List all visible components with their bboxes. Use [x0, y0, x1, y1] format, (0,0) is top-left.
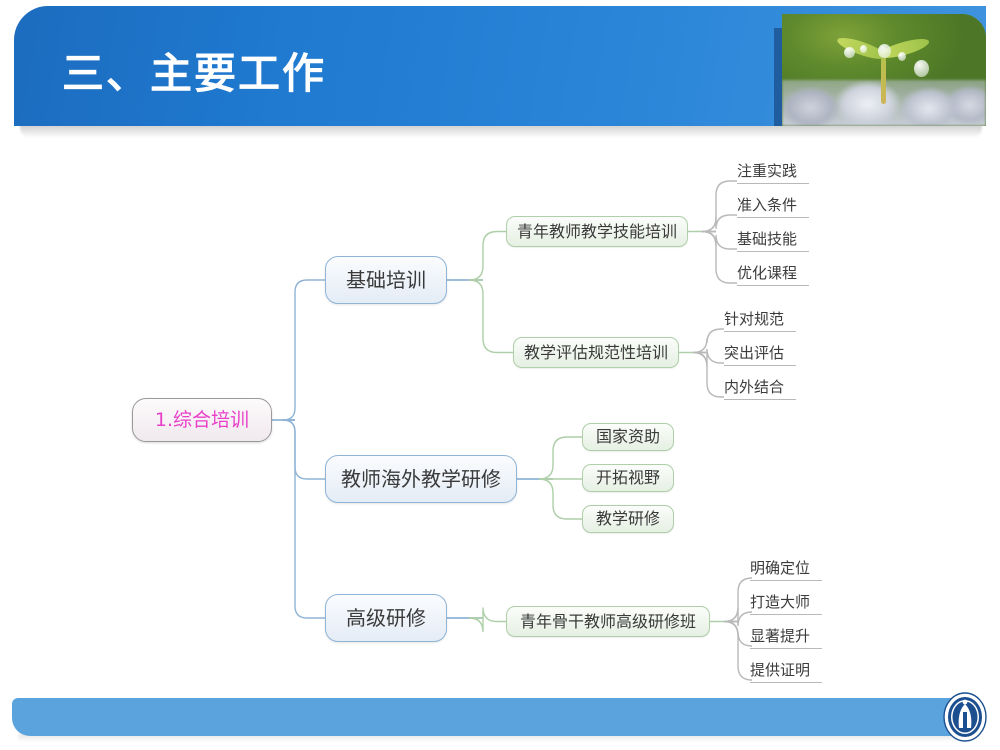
connector-line — [539, 479, 582, 519]
connector-line — [469, 608, 506, 633]
water-drop-shape — [914, 60, 929, 77]
connector-line — [724, 608, 752, 627]
slide-canvas: 三、主要工作 1.综合培训基础培训青年教师教学技能培训注重实践准入条件基础技能优… — [0, 0, 1000, 750]
slide-footer — [12, 698, 980, 736]
water-drop-shape — [878, 44, 891, 58]
mindmap-leaf-2-0-1[interactable]: 打造大师 — [750, 593, 822, 615]
connector-line — [469, 232, 506, 281]
water-drop-shape — [898, 52, 906, 61]
mindmap-leaf-0-1-2[interactable]: 内外结合 — [724, 378, 796, 400]
connector-line — [469, 280, 513, 353]
mindmap-leaf-0-0-0[interactable]: 注重实践 — [737, 162, 809, 184]
mindmap-sub-node-0-0[interactable]: 青年教师教学技能培训 — [506, 216, 688, 247]
mindmap-branch-node-2[interactable]: 高级研修 — [325, 594, 447, 642]
mindmap-sub-node-0-1[interactable]: 教学评估规范性培训 — [513, 337, 679, 368]
connector-line — [693, 353, 724, 398]
mindmap-leaf-0-0-1[interactable]: 准入条件 — [737, 196, 809, 218]
sprout-photo — [782, 14, 986, 126]
connector-line — [283, 280, 325, 420]
mindmap-leaf-2-0-3[interactable]: 提供证明 — [750, 661, 822, 683]
connector-line — [283, 420, 325, 618]
connector-line — [702, 181, 737, 232]
connector-line — [283, 420, 325, 479]
mindmap-sub-node-1-0[interactable]: 国家资助 — [582, 423, 674, 451]
connector-line — [539, 437, 582, 479]
connector-line — [693, 329, 724, 353]
mindmap-root-node[interactable]: 1.综合培训 — [132, 398, 272, 442]
mindmap-leaf-0-1-0[interactable]: 针对规范 — [724, 310, 796, 332]
connector-line — [702, 215, 737, 232]
mindmap-branch-node-0[interactable]: 基础培训 — [325, 256, 447, 304]
mindmap-leaf-2-0-0[interactable]: 明确定位 — [750, 559, 822, 581]
connector-line — [724, 622, 752, 681]
mindmap-sub-node-1-2[interactable]: 教学研修 — [582, 505, 674, 533]
mindmap-sub-node-1-1[interactable]: 开拓视野 — [582, 464, 674, 492]
page-title: 三、主要工作 — [62, 40, 326, 101]
connector-line — [702, 232, 737, 250]
sprout-stem-shape — [881, 54, 886, 104]
mindmap-leaf-0-1-1[interactable]: 突出评估 — [724, 344, 796, 366]
connector-line — [702, 232, 737, 284]
mindmap-diagram: 1.综合培训基础培训青年教师教学技能培训注重实践准入条件基础技能优化课程教学评估… — [0, 130, 1000, 690]
mindmap-leaf-0-0-2[interactable]: 基础技能 — [737, 230, 809, 252]
mindmap-branch-node-1[interactable]: 教师海外教学研修 — [325, 455, 517, 503]
university-emblem-logo — [942, 692, 988, 742]
mindmap-leaf-0-0-3[interactable]: 优化课程 — [737, 264, 809, 286]
water-drop-shape — [860, 45, 867, 53]
mindmap-leaf-2-0-2[interactable]: 显著提升 — [750, 627, 822, 649]
slide-header: 三、主要工作 — [14, 6, 986, 128]
water-drop-shape — [844, 47, 855, 58]
mindmap-sub-node-2-0[interactable]: 青年骨干教师高级研修班 — [506, 606, 710, 637]
